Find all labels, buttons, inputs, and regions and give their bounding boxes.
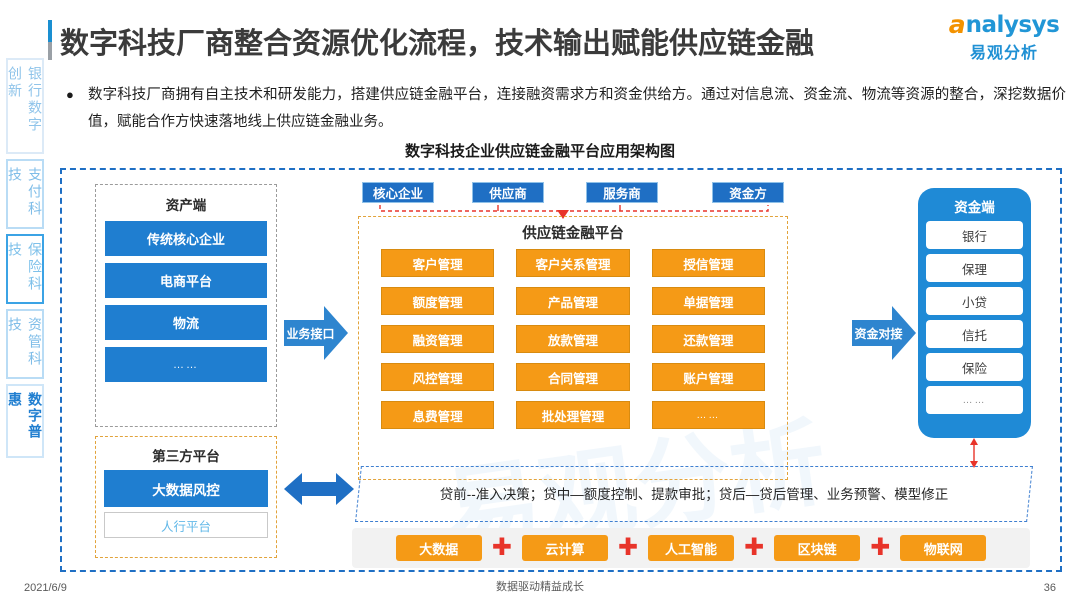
fund-side-title: 资金端 <box>926 192 1023 221</box>
sidebar-tabs: 银行数字创新 支付科技 保险科技 资管科技 数字普惠 <box>6 58 44 463</box>
fund-docking-arrow: 资金对接 <box>852 304 916 362</box>
diagram-subtitle: 数字科技企业供应链金融平台应用架构图 <box>0 140 1080 161</box>
credit-lifecycle-band: 贷前--准入决策；贷中—额度控制、提款审批；贷后—贷后管理、业务预警、模型修正 <box>355 466 1033 522</box>
fund-item-trust[interactable]: 信托 <box>926 320 1023 348</box>
asset-item-ecommerce-platform[interactable]: 电商平台 <box>104 262 268 299</box>
tech-chip-blockchain[interactable]: 区块链 <box>774 535 860 561</box>
platform-module-crm[interactable]: 客户关系管理 <box>516 249 629 277</box>
fund-item-microloan[interactable]: 小贷 <box>926 287 1023 315</box>
role-chip-supplier[interactable]: 供应商 <box>472 182 544 203</box>
sidebar-item-bank-digital-innovation[interactable]: 银行数字创新 <box>6 58 44 154</box>
title-accent-bar <box>48 20 52 60</box>
platform-module-interest-fee[interactable]: 息费管理 <box>381 401 494 429</box>
bullet-body-text: 数字科技厂商拥有自主技术和研发能力，搭建供应链金融平台，连接融资需求方和资金供给… <box>88 82 1066 136</box>
logo-chinese-name: 易观分析 <box>944 39 1064 63</box>
asset-item-more[interactable]: …… <box>104 346 268 383</box>
footer-page-number: 36 <box>1044 582 1056 594</box>
platform-module-loan-disbursement[interactable]: 放款管理 <box>516 325 629 353</box>
tech-chip-cloud-computing[interactable]: 云计算 <box>522 535 608 561</box>
logo-a-glyph: a <box>949 12 966 37</box>
page-title: 数字科技厂商整合资源优化流程，技术输出赋能供应链金融 <box>60 20 814 62</box>
platform-module-grid: 客户管理 客户关系管理 授信管理 额度管理 产品管理 单据管理 融资管理 放款管… <box>359 249 787 429</box>
platform-module-repayment-management[interactable]: 还款管理 <box>652 325 765 353</box>
role-chip-core-enterprise[interactable]: 核心企业 <box>362 182 434 203</box>
tech-chip-iot[interactable]: 物联网 <box>900 535 986 561</box>
platform-module-contract-management[interactable]: 合同管理 <box>516 363 629 391</box>
third-party-item-pboc-platform[interactable]: 人行平台 <box>104 512 268 538</box>
fund-item-bank[interactable]: 银行 <box>926 221 1023 249</box>
platform-module-more[interactable]: …… <box>652 401 765 429</box>
plus-icon-3: ✚ <box>744 536 764 560</box>
platform-module-quota-management[interactable]: 额度管理 <box>381 287 494 315</box>
analysys-logo: a nalysys 易观分析 <box>944 12 1064 63</box>
plus-icon-4: ✚ <box>870 536 890 560</box>
sidebar-item-payment-tech[interactable]: 支付科技 <box>6 159 44 229</box>
third-party-title: 第三方平台 <box>100 441 272 470</box>
platform-title: 供应链金融平台 <box>359 217 787 249</box>
platform-module-risk-control[interactable]: 风控管理 <box>381 363 494 391</box>
platform-module-customer-management[interactable]: 客户管理 <box>381 249 494 277</box>
platform-module-financing-management[interactable]: 融资管理 <box>381 325 494 353</box>
fund-item-more[interactable]: …… <box>926 386 1023 414</box>
plus-icon-1: ✚ <box>492 536 512 560</box>
asset-item-logistics[interactable]: 物流 <box>104 304 268 341</box>
role-chip-funder[interactable]: 资金方 <box>712 182 784 203</box>
technology-stack-band: 大数据 ✚ 云计算 ✚ 人工智能 ✚ 区块链 ✚ 物联网 <box>352 528 1030 568</box>
third-party-panel: 第三方平台 大数据风控 人行平台 <box>95 436 277 558</box>
role-chip-service-provider[interactable]: 服务商 <box>586 182 658 203</box>
fund-risk-link-arrow-icon <box>964 438 984 468</box>
bullet-marker-icon: ● <box>66 82 88 136</box>
platform-module-document-management[interactable]: 单据管理 <box>652 287 765 315</box>
logo-wordmark: nalysys <box>966 14 1060 37</box>
fund-item-factoring[interactable]: 保理 <box>926 254 1023 282</box>
tech-chip-big-data[interactable]: 大数据 <box>396 535 482 561</box>
asset-side-panel: 资产端 传统核心企业 电商平台 物流 …… <box>95 184 277 427</box>
fund-docking-label: 资金对接 <box>854 325 913 342</box>
sidebar-item-insurance-tech[interactable]: 保险科技 <box>6 234 44 304</box>
fund-item-insurance[interactable]: 保险 <box>926 353 1023 381</box>
plus-icon-2: ✚ <box>618 536 638 560</box>
tech-chip-artificial-intelligence[interactable]: 人工智能 <box>648 535 734 561</box>
asset-item-traditional-core-enterprise[interactable]: 传统核心企业 <box>104 220 268 257</box>
sidebar-item-asset-management-tech[interactable]: 资管科技 <box>6 309 44 379</box>
footer-tagline: 数据驱动精益成长 <box>0 578 1080 594</box>
platform-module-account-management[interactable]: 账户管理 <box>652 363 765 391</box>
architecture-diagram: 易观分析 资产端 传统核心企业 电商平台 物流 …… 第三方平台 大数据风控 人… <box>60 168 1062 572</box>
asset-side-title: 资产端 <box>100 189 272 220</box>
third-party-link-arrow <box>284 469 354 509</box>
bullet-paragraph: ● 数字科技厂商拥有自主技术和研发能力，搭建供应链金融平台，连接融资需求方和资金… <box>66 82 1066 136</box>
arrow-left-right-icon <box>284 469 354 509</box>
business-interface-arrow: 业务接口 <box>284 304 348 362</box>
platform-module-batch-processing[interactable]: 批处理管理 <box>516 401 629 429</box>
fund-side-panel: 资金端 银行 保理 小贷 信托 保险 …… <box>918 188 1031 438</box>
third-party-item-bigdata-riskcontrol[interactable]: 大数据风控 <box>104 470 268 507</box>
supply-chain-finance-platform: 供应链金融平台 客户管理 客户关系管理 授信管理 额度管理 产品管理 单据管理 … <box>358 216 788 480</box>
business-interface-label: 业务接口 <box>286 325 345 342</box>
sidebar-item-digital-inclusive-finance[interactable]: 数字普惠 <box>6 384 44 458</box>
platform-module-product-management[interactable]: 产品管理 <box>516 287 629 315</box>
platform-module-credit-granting[interactable]: 授信管理 <box>652 249 765 277</box>
credit-lifecycle-text: 贷前--准入决策；贷中—额度控制、提款审批；贷后—贷后管理、业务预警、模型修正 <box>359 467 1029 521</box>
slide-page: 数字科技厂商整合资源优化流程，技术输出赋能供应链金融 a nalysys 易观分… <box>0 0 1080 608</box>
